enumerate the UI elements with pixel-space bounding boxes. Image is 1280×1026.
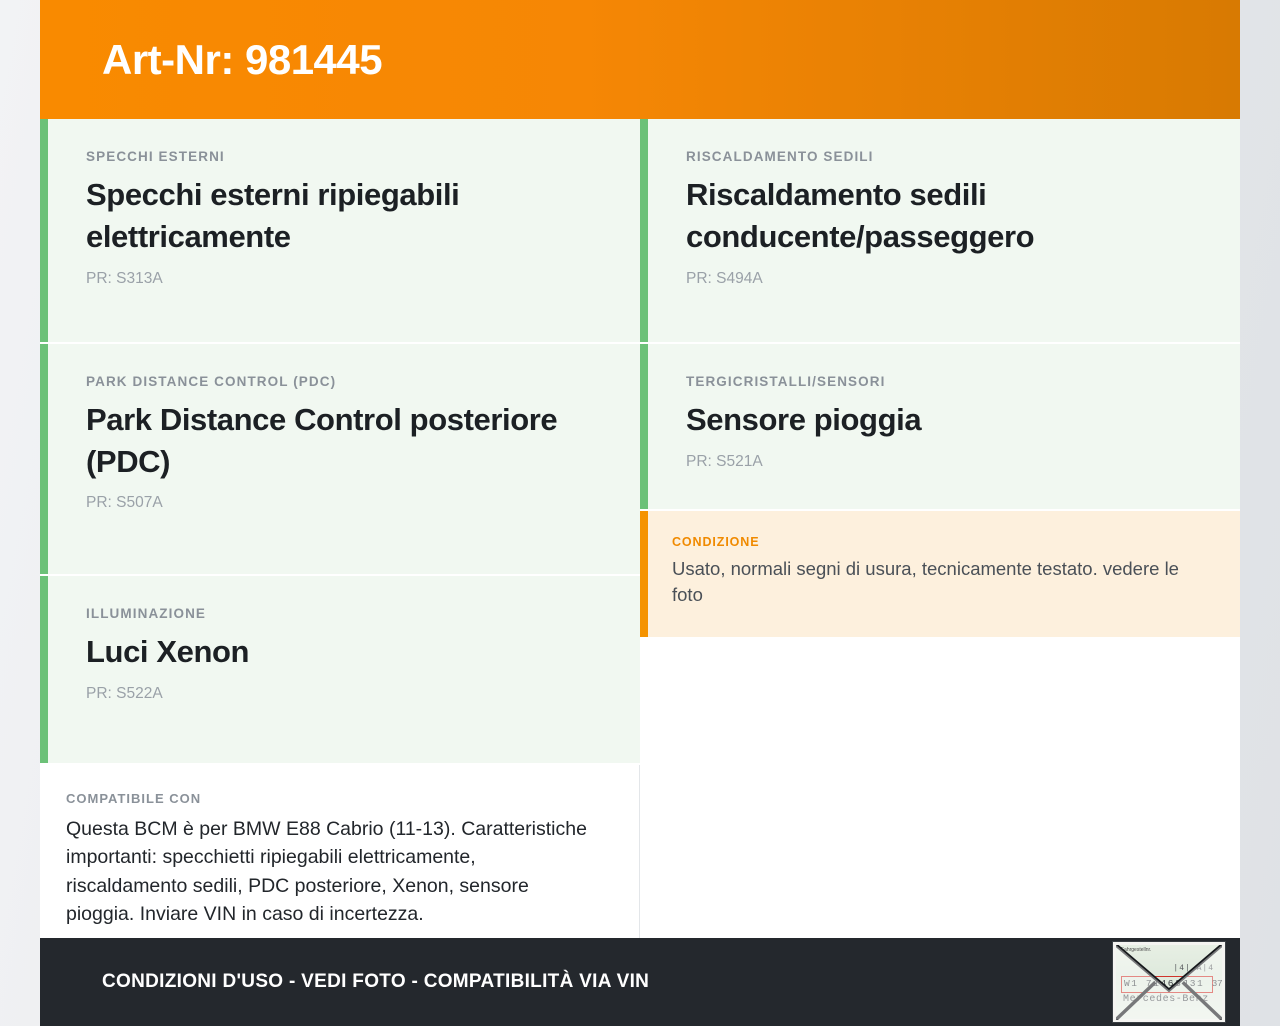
condition-card: CONDIZIONE Usato, normali segni di usura… bbox=[640, 511, 1240, 640]
footer-notice: CONDIZIONI D'USO - VEDI FOTO - COMPATIBI… bbox=[102, 971, 649, 993]
feature-card-kicker: PARK DISTANCE CONTROL (PDC) bbox=[86, 374, 604, 389]
compatibility-text: Questa BCM è per BMW E88 Cabrio (11-13).… bbox=[66, 815, 599, 928]
feature-card-illuminazione: ILLUMINAZIONE Luci Xenon PR: S522A bbox=[40, 576, 640, 765]
feature-card-title: Park Distance Control posteriore (PDC) bbox=[86, 399, 604, 483]
feature-card-sensore-pioggia: TERGICRISTALLI/SENSORI Sensore pioggia P… bbox=[640, 344, 1240, 511]
feature-card-kicker: TERGICRISTALLI/SENSORI bbox=[686, 374, 1204, 389]
feature-card-title: Specchi esterni ripiegabili elettricamen… bbox=[86, 174, 604, 258]
condition-text: Usato, normali segni di usura, tecnicame… bbox=[672, 556, 1204, 610]
compatibility-block: COMPATIBILE CON Questa BCM è per BMW E88… bbox=[40, 765, 640, 938]
feature-card-specchi-esterni: SPECCHI ESTERNI Specchi esterni ripiegab… bbox=[40, 119, 640, 344]
lower-right-empty bbox=[640, 765, 1240, 938]
feature-card-pr-code: PR: S521A bbox=[686, 453, 1204, 471]
feature-card-pr-code: PR: S522A bbox=[86, 685, 604, 703]
lower-section: COMPATIBILE CON Questa BCM è per BMW E88… bbox=[40, 765, 1240, 938]
condition-kicker: CONDIZIONE bbox=[672, 535, 1204, 549]
footer-bar: CONDIZIONI D'USO - VEDI FOTO - COMPATIBI… bbox=[40, 938, 1240, 1026]
feature-column-right: RISCALDAMENTO SEDILI Riscaldamento sedil… bbox=[640, 119, 1240, 639]
envelope-icon bbox=[1116, 945, 1222, 1020]
feature-card-riscaldamento-sedili: RISCALDAMENTO SEDILI Riscaldamento sedil… bbox=[640, 119, 1240, 344]
header-bar: Art-Nr: 981445 bbox=[40, 0, 1240, 119]
feature-card-pr-code: PR: S507A bbox=[86, 494, 604, 512]
feature-card-title: Luci Xenon bbox=[86, 631, 604, 673]
page-title: Art-Nr: 981445 bbox=[40, 36, 382, 84]
feature-grid: SPECCHI ESTERNI Specchi esterni ripiegab… bbox=[40, 119, 1240, 765]
feature-card-kicker: ILLUMINAZIONE bbox=[86, 606, 604, 621]
vin-document-thumbnail[interactable]: Fahrgestellnr. |4| A|4 W1 71463J31 3 7 M… bbox=[1112, 941, 1226, 1023]
feature-card-title: Riscaldamento sedili conducente/passegge… bbox=[686, 174, 1204, 258]
compatibility-kicker: COMPATIBILE CON bbox=[66, 791, 599, 806]
feature-card-park-distance-control: PARK DISTANCE CONTROL (PDC) Park Distanc… bbox=[40, 344, 640, 577]
feature-card-kicker: RISCALDAMENTO SEDILI bbox=[686, 149, 1204, 164]
product-sheet: Art-Nr: 981445 SPECCHI ESTERNI Specchi e… bbox=[40, 0, 1240, 1026]
feature-card-pr-code: PR: S313A bbox=[86, 270, 604, 288]
feature-column-left: SPECCHI ESTERNI Specchi esterni ripiegab… bbox=[40, 119, 640, 765]
feature-card-pr-code: PR: S494A bbox=[686, 270, 1204, 288]
feature-card-kicker: SPECCHI ESTERNI bbox=[86, 149, 604, 164]
feature-card-title: Sensore pioggia bbox=[686, 399, 1204, 441]
